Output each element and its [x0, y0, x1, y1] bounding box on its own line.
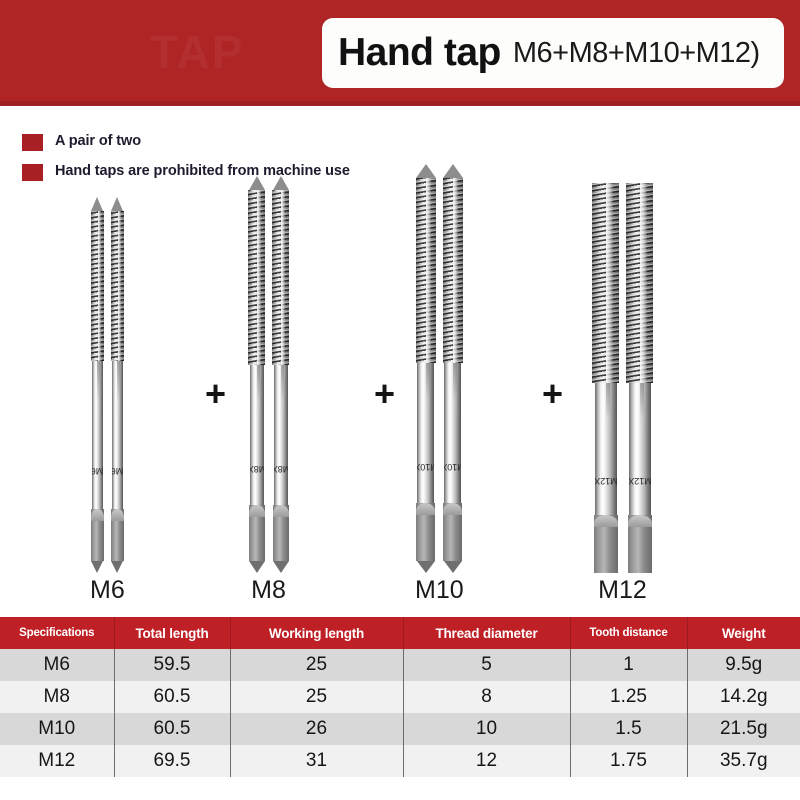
table-cell: 25	[230, 649, 403, 681]
plus-separator-icon: +	[374, 376, 395, 412]
table-cell: M8	[0, 681, 114, 713]
tap-square-drive	[91, 509, 104, 561]
tap-group-m10: M10XM10XM10	[415, 164, 464, 605]
table-header-cell: Weight	[687, 617, 800, 649]
tap-shank: M12X	[595, 383, 617, 515]
tap-threaded-section	[248, 190, 265, 365]
note-text: A pair of two	[55, 132, 141, 151]
table-cell: M12	[0, 745, 114, 777]
tap-group-m12: M12XM12XM12	[592, 183, 653, 605]
tap-pair: M8XM8X	[248, 176, 289, 573]
table-row: M659.525519.5g	[0, 649, 800, 681]
tap-square-end-icon	[91, 561, 103, 573]
tap-point-icon	[249, 176, 265, 190]
table-cell: 31	[230, 745, 403, 777]
tap-threaded-section	[416, 178, 436, 363]
page-title: Hand tap	[338, 31, 501, 75]
tap-group-m6: M6M6M6	[90, 197, 125, 605]
tap-point-icon	[91, 197, 103, 211]
table-cell: 1.25	[570, 681, 687, 713]
table-header-cell: Specifications	[0, 617, 114, 649]
tap-pair: M6M6	[91, 197, 124, 573]
tap-shank: M6	[112, 361, 123, 509]
table-row: M1060.526101.521.5g	[0, 713, 800, 745]
table-cell: 5	[403, 649, 570, 681]
tap-size-label: M10	[415, 576, 464, 605]
table-cell: 1	[570, 649, 687, 681]
tap-square-drive	[594, 515, 618, 573]
table-cell: 60.5	[114, 713, 230, 745]
tap-shank: M8X	[274, 365, 288, 505]
header-band: TAP Hand tap M6+M8+M10+M12)	[0, 0, 800, 106]
title-box: Hand tap M6+M8+M10+M12)	[322, 18, 784, 88]
table-header-cell: Thread diameter	[403, 617, 570, 649]
tap-threaded-section	[272, 190, 289, 365]
product-image-area: M6M6M6M8XM8XM8M10XM10XM10M12XM12XM12+++	[0, 180, 800, 605]
tap-shank: M10X	[417, 363, 434, 503]
tap-point-icon	[111, 197, 123, 211]
tap-tool: M6	[111, 197, 124, 573]
tap-shank: M10X	[444, 363, 461, 503]
tap-threaded-section	[592, 183, 619, 383]
table-cell: M10	[0, 713, 114, 745]
watermark-text: TAP	[150, 22, 320, 82]
tap-engraving-label: M10X	[444, 462, 461, 472]
table-cell: 8	[403, 681, 570, 713]
specifications-table: SpecificationsTotal lengthWorking length…	[0, 617, 800, 777]
tap-tool: M12X	[626, 183, 653, 573]
tap-square-drive	[249, 505, 265, 561]
tap-square-drive	[273, 505, 289, 561]
tap-engraving-label: M6	[112, 466, 123, 476]
table-row: M1269.531121.7535.7g	[0, 745, 800, 777]
table-cell: 1.75	[570, 745, 687, 777]
bullet-square-icon	[22, 164, 43, 181]
tap-point-icon	[416, 164, 436, 178]
tap-tool: M6	[91, 197, 104, 573]
table-cell: 35.7g	[687, 745, 800, 777]
tap-threaded-section	[626, 183, 653, 383]
table-cell: 59.5	[114, 649, 230, 681]
tap-square-end-icon	[111, 561, 123, 573]
page-subtitle: M6+M8+M10+M12)	[513, 37, 760, 70]
note-item: A pair of two	[22, 132, 352, 151]
table-cell: 1.5	[570, 713, 687, 745]
tap-size-label: M6	[90, 576, 125, 605]
table-header-cell: Tooth distance	[570, 617, 687, 649]
table-cell: 10	[403, 713, 570, 745]
tap-size-label: M8	[251, 576, 286, 605]
tap-engraving-label: M6	[92, 466, 103, 476]
tap-shank: M8X	[250, 365, 264, 505]
tap-threaded-section	[91, 211, 104, 361]
table-cell: 26	[230, 713, 403, 745]
tap-tool: M12X	[592, 183, 619, 573]
tap-threaded-section	[443, 178, 463, 363]
tap-square-end-icon	[444, 561, 462, 573]
tap-tool: M8X	[272, 176, 289, 573]
note-item: Hand taps are prohibited from machine us…	[22, 162, 352, 181]
tap-point-icon	[443, 164, 463, 178]
note-text: Hand taps are prohibited from machine us…	[55, 162, 350, 181]
table-cell: M6	[0, 649, 114, 681]
tap-tool: M10X	[416, 164, 436, 573]
table-cell: 12	[403, 745, 570, 777]
tap-square-drive	[443, 503, 462, 561]
tap-engraving-label: M10X	[417, 462, 434, 472]
table-cell: 14.2g	[687, 681, 800, 713]
tap-pair: M12XM12X	[592, 183, 653, 573]
tap-tool: M10X	[443, 164, 463, 573]
table-row: M860.52581.2514.2g	[0, 681, 800, 713]
tap-square-end-icon	[249, 561, 265, 573]
tap-shank: M6	[92, 361, 103, 509]
tap-tool: M8X	[248, 176, 265, 573]
tap-engraving-label: M8X	[250, 464, 264, 474]
tap-point-icon	[273, 176, 289, 190]
tap-engraving-label: M12X	[629, 476, 651, 486]
tap-square-drive	[628, 515, 652, 573]
tap-square-drive	[416, 503, 435, 561]
bullet-square-icon	[22, 134, 43, 151]
plus-separator-icon: +	[542, 376, 563, 412]
tap-square-drive	[111, 509, 124, 561]
tap-group-m8: M8XM8XM8	[248, 176, 289, 605]
tap-pair: M10XM10X	[416, 164, 463, 573]
tap-engraving-label: M12X	[595, 476, 617, 486]
table-cell: 60.5	[114, 681, 230, 713]
tap-threaded-section	[111, 211, 124, 361]
table-cell: 69.5	[114, 745, 230, 777]
tap-square-end-icon	[273, 561, 289, 573]
table-header-cell: Total length	[114, 617, 230, 649]
table-cell: 25	[230, 681, 403, 713]
table-header-row: SpecificationsTotal lengthWorking length…	[0, 617, 800, 649]
tap-square-end-icon	[417, 561, 435, 573]
table-cell: 9.5g	[687, 649, 800, 681]
table-cell: 21.5g	[687, 713, 800, 745]
plus-separator-icon: +	[205, 376, 226, 412]
tap-size-label: M12	[598, 576, 647, 605]
tap-shank: M12X	[629, 383, 651, 515]
table-header-cell: Working length	[230, 617, 403, 649]
tap-engraving-label: M8X	[274, 464, 288, 474]
